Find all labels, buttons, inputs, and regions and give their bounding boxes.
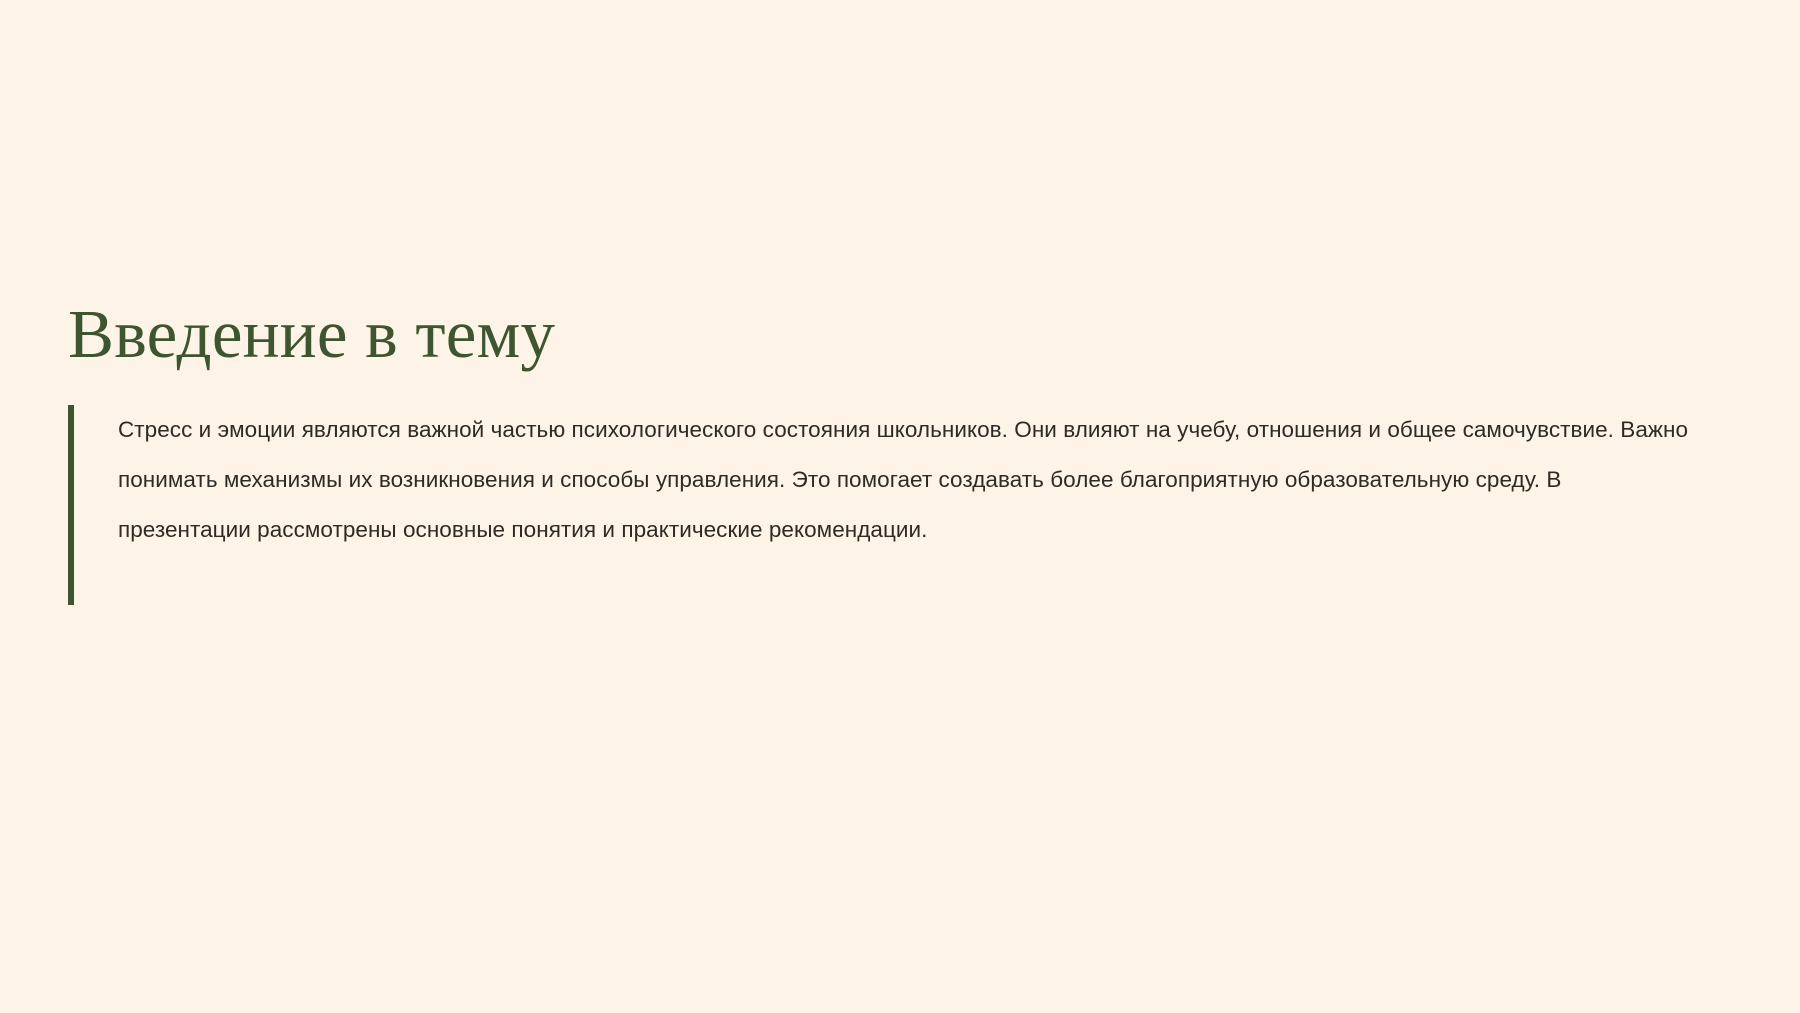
slide-content-area: Введение в тему Стресс и эмоции являются… [68,300,1728,555]
presentation-slide: Введение в тему Стресс и эмоции являются… [0,0,1800,1013]
body-text-block: Стресс и эмоции являются важной частью п… [68,405,1690,555]
accent-bar [68,405,74,605]
body-paragraph: Стресс и эмоции являются важной частью п… [118,405,1690,555]
page-title: Введение в тему [68,300,1728,384]
